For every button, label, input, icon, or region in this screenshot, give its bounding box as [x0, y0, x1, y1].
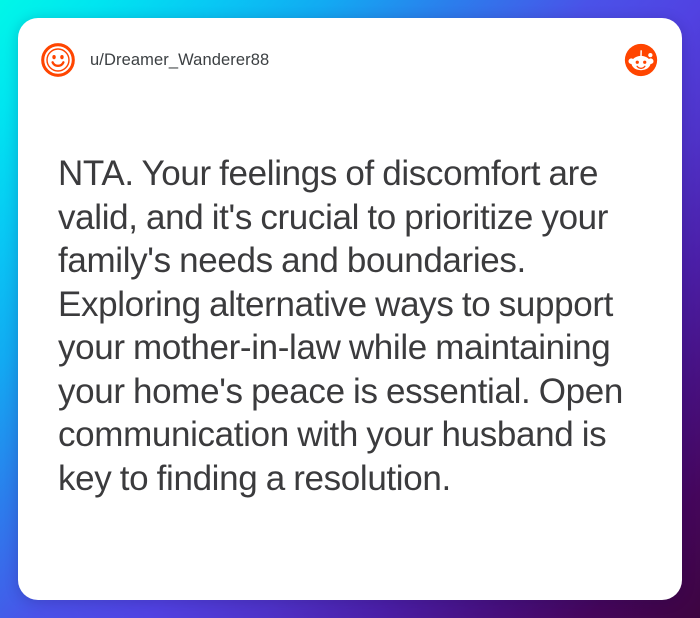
username-label: u/Dreamer_Wanderer88	[90, 51, 269, 70]
reddit-post-card: u/Dreamer_Wanderer88 NTA. Your feelings …	[18, 18, 682, 600]
post-text: NTA. Your feelings of discomfort are val…	[58, 80, 648, 500]
reddit-snoo-logo-icon[interactable]	[624, 43, 658, 77]
post-body: NTA. Your feelings of discomfort are val…	[18, 80, 682, 600]
post-header: u/Dreamer_Wanderer88	[18, 18, 682, 80]
smiley-face-avatar-icon[interactable]	[40, 42, 76, 78]
gradient-background: u/Dreamer_Wanderer88 NTA. Your feelings …	[0, 0, 700, 618]
